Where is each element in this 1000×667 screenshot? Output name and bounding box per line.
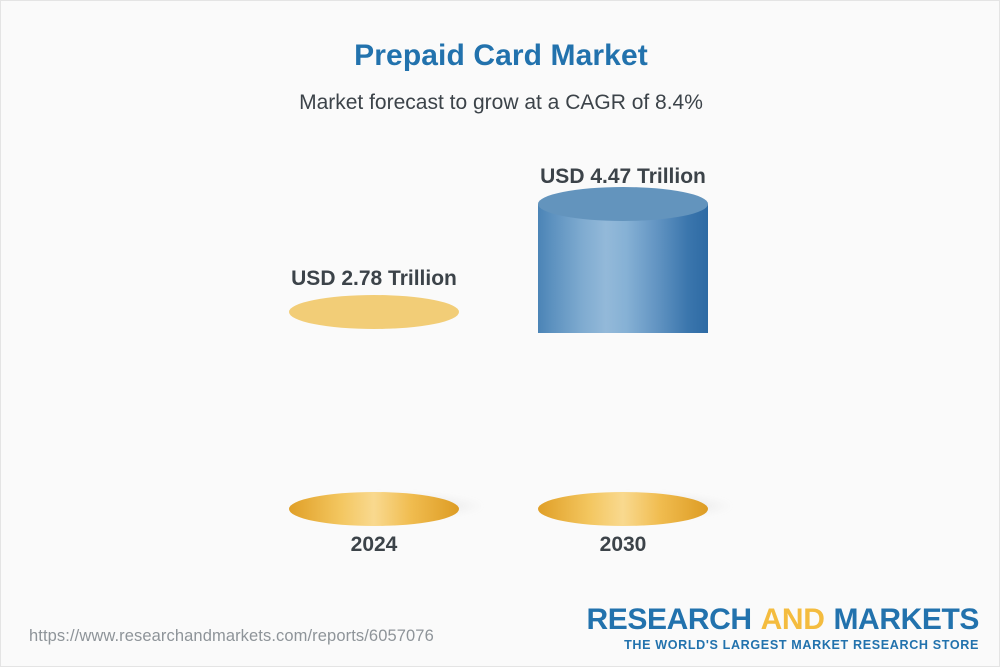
source-url[interactable]: https://www.researchandmarkets.com/repor… bbox=[29, 627, 434, 646]
footer: https://www.researchandmarkets.com/repor… bbox=[1, 596, 1000, 666]
bar-segment-2024-base bbox=[289, 312, 459, 509]
brand-logo[interactable]: RESEARCHANDMARKETS THE WORLD'S LARGEST M… bbox=[587, 605, 979, 652]
bar-cylinder-2024[interactable] bbox=[289, 312, 459, 509]
cylinder-top-cap bbox=[538, 187, 708, 221]
value-label-2030: USD 4.47 Trillion bbox=[493, 165, 753, 189]
cylinder-body bbox=[538, 204, 708, 333]
logo-word-and: AND bbox=[761, 603, 825, 636]
value-label-2024: USD 2.78 Trillion bbox=[244, 267, 504, 291]
cylinder-body bbox=[538, 333, 708, 509]
bar-segment-2030-growth bbox=[538, 204, 708, 333]
bar-cylinder-2030[interactable] bbox=[538, 204, 708, 509]
chart-canvas: Prepaid Card Market Market forecast to g… bbox=[0, 0, 1000, 667]
plot-area: USD 2.78 Trillion 2024 USD 4.47 Trillion bbox=[1, 1, 1000, 601]
axis-label-2030: 2030 bbox=[528, 533, 718, 557]
cylinder-top-cap bbox=[289, 295, 459, 329]
axis-label-2024: 2024 bbox=[279, 533, 469, 557]
logo-word-markets: MARKETS bbox=[833, 603, 979, 636]
logo-word-research: RESEARCH bbox=[587, 603, 752, 636]
logo-tagline: THE WORLD'S LARGEST MARKET RESEARCH STOR… bbox=[587, 638, 979, 652]
cylinder-body bbox=[289, 312, 459, 509]
logo-wordmark: RESEARCHANDMARKETS bbox=[587, 605, 979, 636]
bar-segment-2030-base bbox=[538, 333, 708, 509]
